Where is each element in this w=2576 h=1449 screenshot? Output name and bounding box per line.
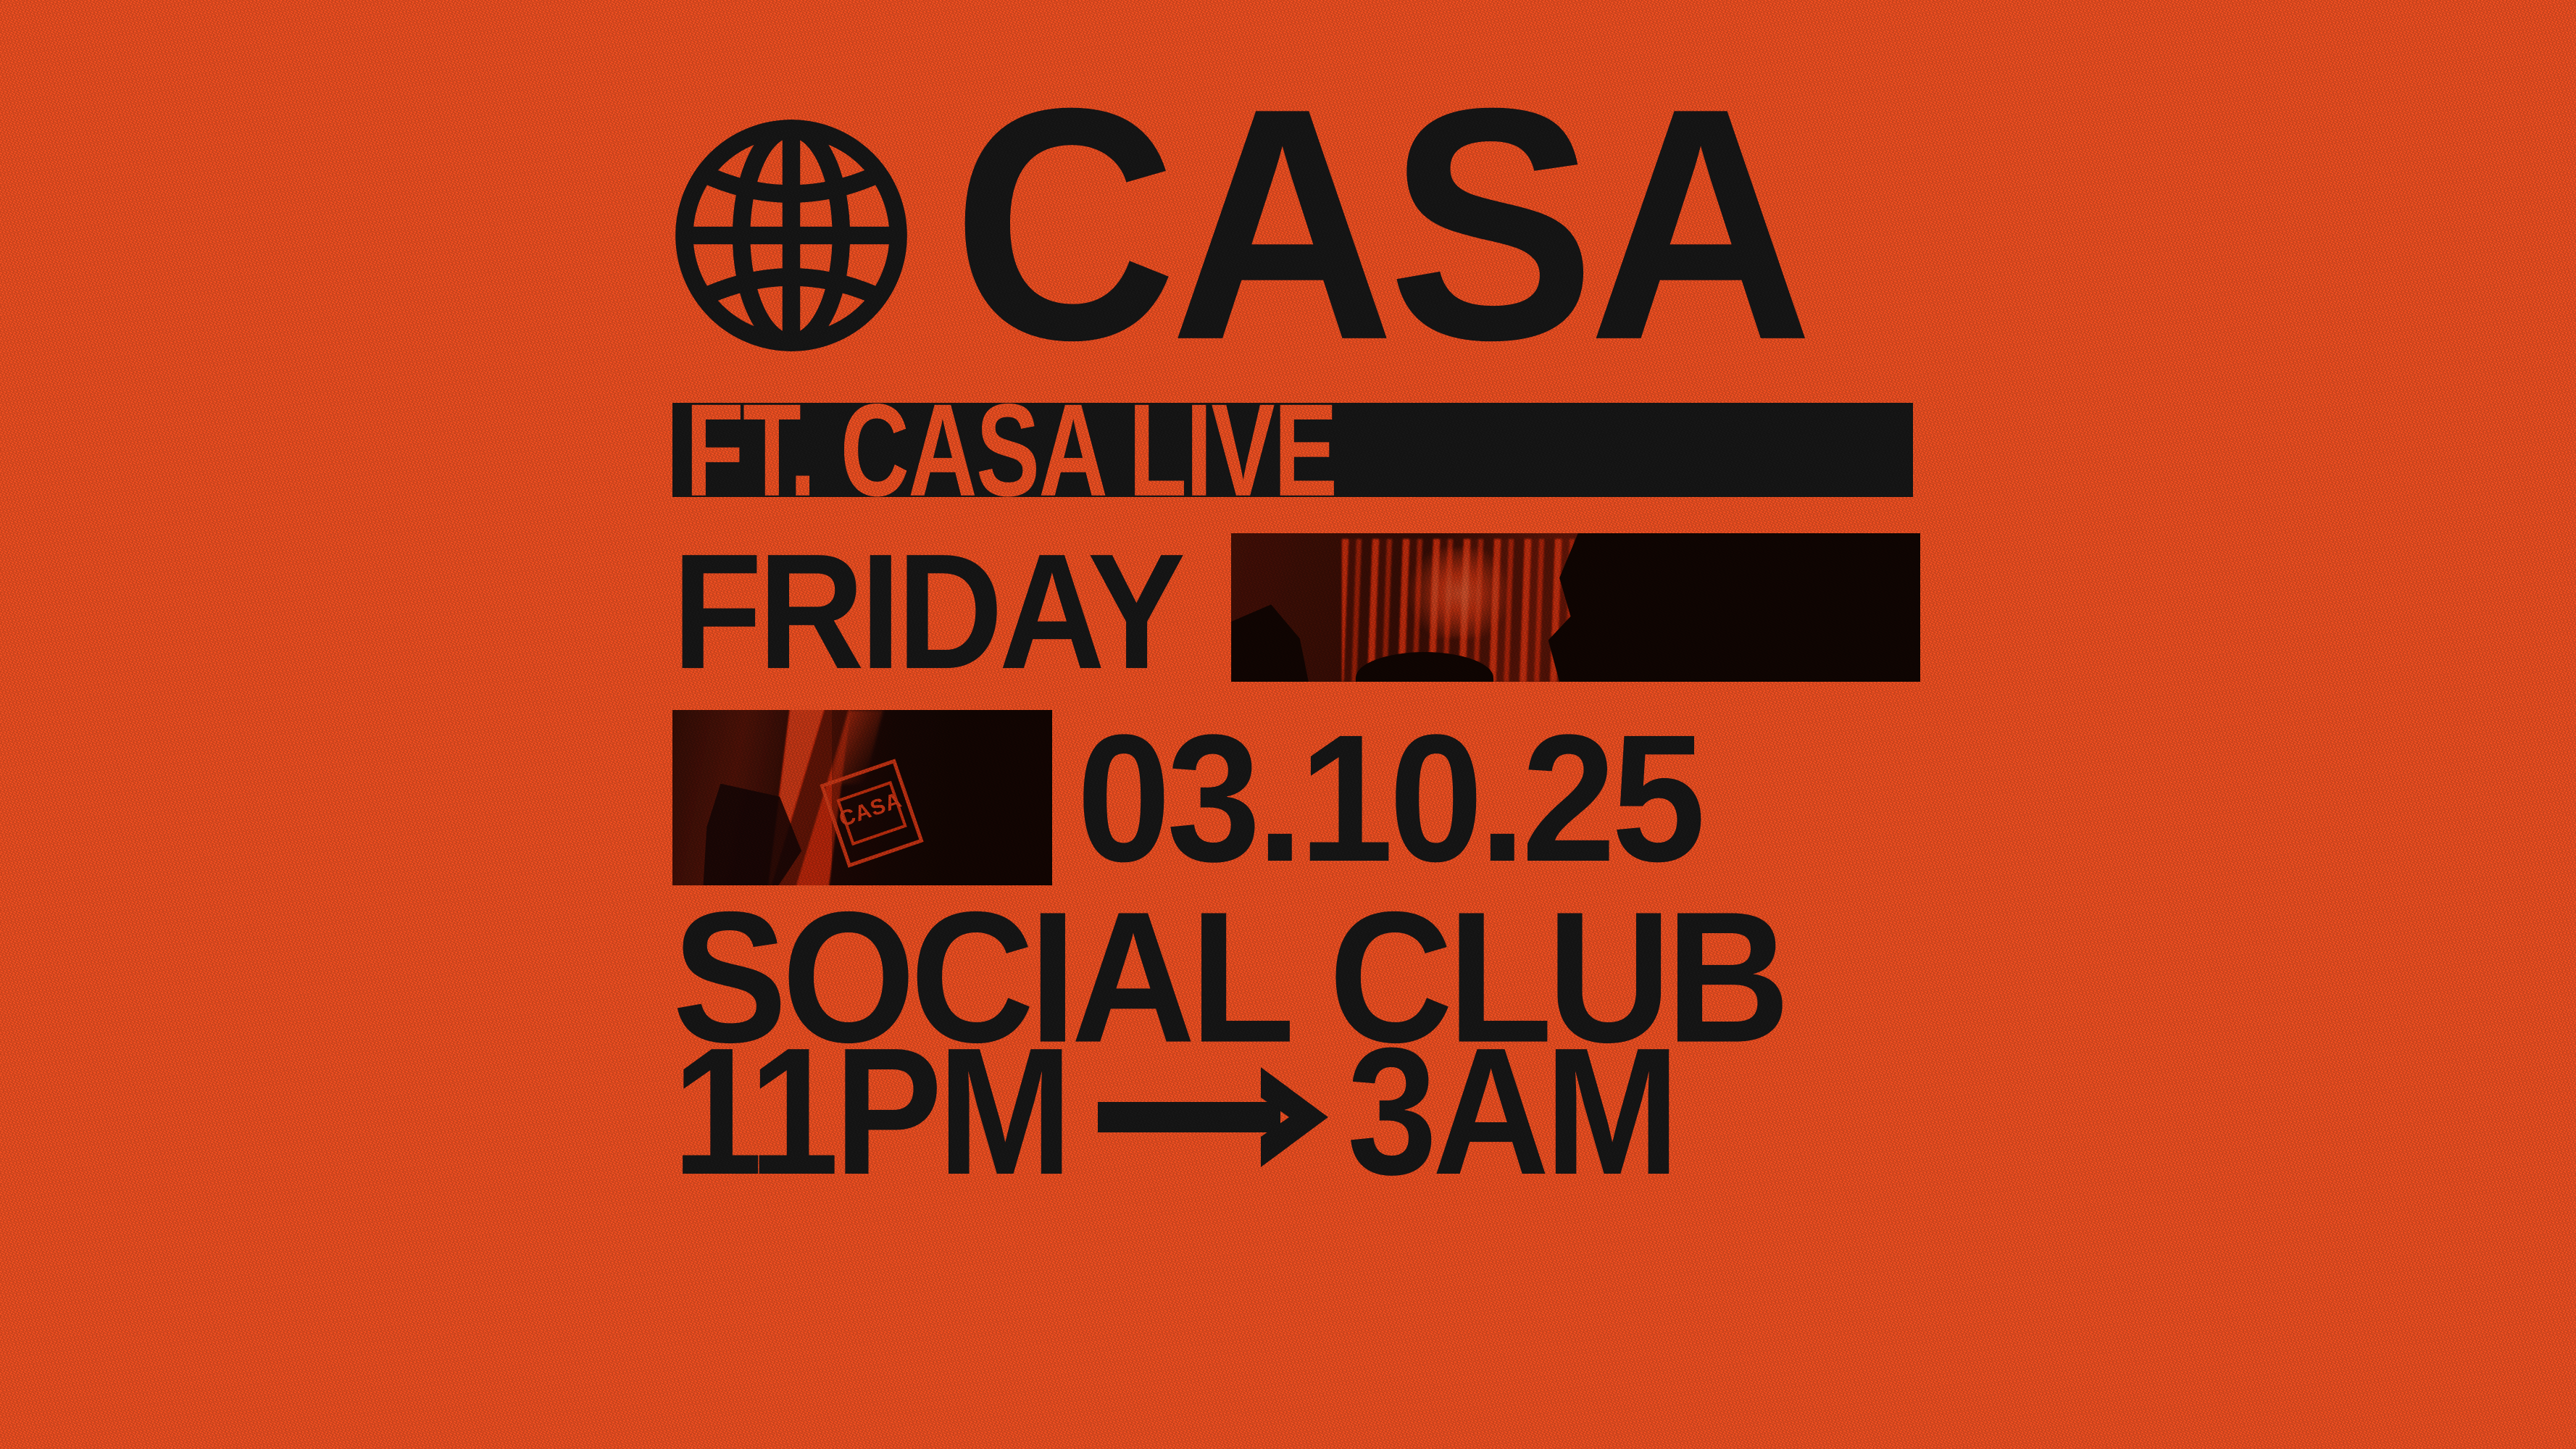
time-row: 11PM 3AM xyxy=(672,1036,1920,1188)
support-line: FT. CASA LIVE xyxy=(685,401,1336,498)
event-date: 03.10.25 xyxy=(1077,705,1701,889)
poster-canvas: CASA FT. CASA LIVE FRIDAY xyxy=(0,0,2576,1449)
date-row: CASA 03.10.25 xyxy=(672,710,1920,884)
casa-patch-photo: CASA xyxy=(672,710,1052,885)
poster-content: CASA FT. CASA LIVE FRIDAY xyxy=(672,87,1920,1188)
brand-name: CASA xyxy=(952,96,1806,354)
event-day: FRIDAY xyxy=(672,530,1182,690)
event-time-end: 3AM xyxy=(1347,1022,1675,1203)
day-row: FRIDAY xyxy=(672,533,1920,687)
event-time-start: 11PM xyxy=(672,1022,1068,1203)
support-bar: FT. CASA LIVE xyxy=(672,403,1913,497)
photo-light-halo xyxy=(1397,548,1521,638)
brand-row: CASA xyxy=(672,87,1920,377)
globe-icon xyxy=(672,117,910,354)
venue-crowd-photo xyxy=(1231,533,1920,682)
arrow-right-icon xyxy=(1098,1063,1337,1172)
photo-dark-mass xyxy=(1548,533,1920,682)
